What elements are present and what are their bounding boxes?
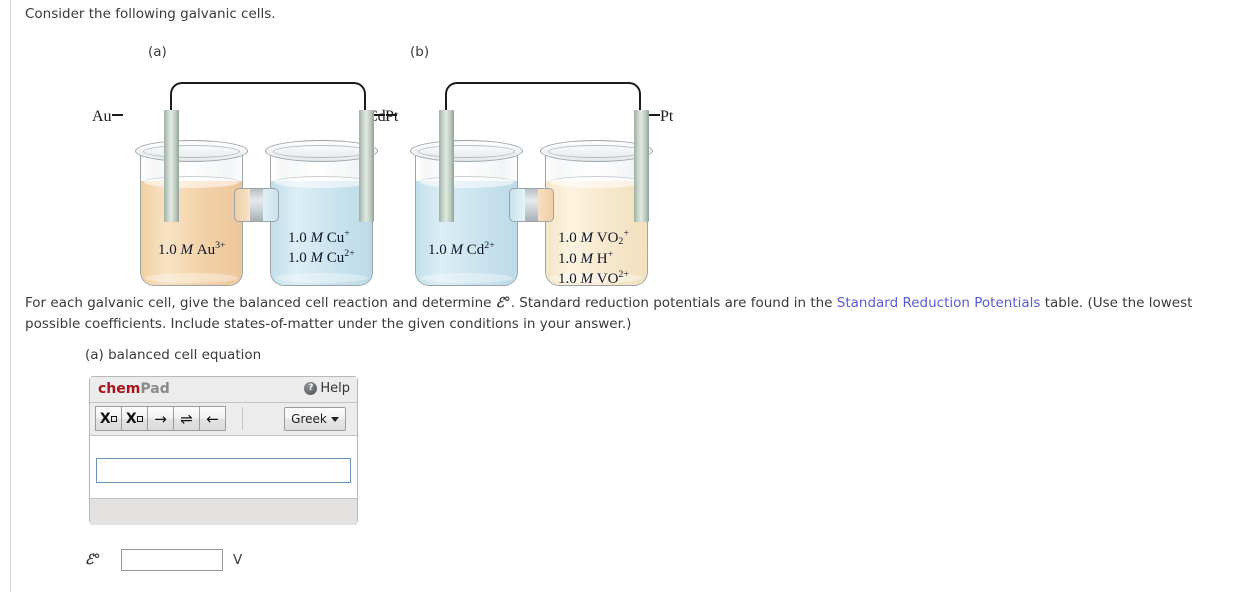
superscript-box-icon	[137, 416, 143, 422]
chempad-header: chemPad ? Help	[90, 377, 357, 403]
cell-b-left-solution-label: 1.0 M Cd2+	[428, 240, 495, 260]
cell-a-cathode-electrode	[359, 110, 374, 222]
potential-unit-label: V	[233, 552, 242, 568]
cell-potential-symbol: ℰ°	[496, 295, 511, 311]
cell-b-caption: (b)	[410, 44, 429, 60]
cell-b-right-solution-label: 1.0 M VO2+ 1.0 M H+ 1.0 M VO2+	[558, 228, 629, 289]
beaker-rim	[135, 140, 248, 162]
help-icon: ?	[304, 382, 317, 395]
question-prompt: For each galvanic cell, give the balance…	[25, 293, 1240, 335]
cell-potential-row: ℰ° V	[85, 549, 242, 571]
connecting-wire-icon	[170, 82, 366, 134]
cell-b-cathode-electrode	[634, 110, 649, 222]
chempad-toolbar: X X → ⇌ ← Greek	[90, 403, 357, 436]
cell-a-right-solution-label: 1.0 M Cu+ 1.0 M Cu2+	[288, 228, 355, 268]
equilibrium-arrow-button[interactable]: ⇌	[173, 406, 200, 431]
galvanic-cell-b: Cd Pt 1.0 M Cd2+ 1.0 M VO2+ 1.0 M H+ 1.0…	[415, 62, 677, 290]
greek-label: Greek	[291, 412, 327, 426]
potential-symbol-label: ℰ°	[85, 552, 111, 568]
balanced-equation-input[interactable]	[96, 458, 351, 483]
cell-b-right-electrode-label: Pt	[649, 108, 673, 126]
prompt-part-1: For each galvanic cell, give the balance…	[25, 295, 496, 311]
cell-b-left-beaker	[415, 140, 518, 286]
chempad-help-label: Help	[320, 381, 350, 396]
superscript-button[interactable]: X	[121, 406, 148, 431]
toolbar-divider	[242, 407, 243, 430]
chempad-canvas[interactable]	[90, 436, 357, 499]
chempad-footer	[90, 499, 357, 525]
chempad-help-button[interactable]: ? Help	[304, 381, 350, 396]
cell-a-salt-bridge-icon	[234, 188, 279, 222]
chevron-down-icon	[331, 417, 339, 422]
cell-b-anode-electrode	[439, 110, 454, 222]
greek-dropdown-button[interactable]: Greek	[284, 407, 346, 431]
cell-b-salt-bridge-icon	[509, 188, 554, 222]
forward-arrow-button[interactable]: →	[147, 406, 174, 431]
cell-a-left-solution-label: 1.0 M Au3+	[158, 240, 226, 260]
galvanic-cells-figure: (a) (b) Au Pt 1.0 M Au3+ 1.0 M Cu+	[140, 40, 700, 290]
chempad-title-chem: chem	[98, 381, 140, 397]
page-left-rule	[10, 0, 11, 592]
chempad-title-pad: Pad	[140, 381, 169, 397]
chempad-title: chemPad	[98, 381, 170, 397]
cell-potential-input[interactable]	[121, 549, 223, 571]
cell-a-left-beaker	[140, 140, 243, 286]
standard-reduction-potentials-link[interactable]: Standard Reduction Potentials	[837, 295, 1041, 311]
chempad-widget: chemPad ? Help X X → ⇌ ← Greek	[89, 376, 358, 524]
beaker-rim	[410, 140, 523, 162]
galvanic-cell-a: Au Pt 1.0 M Au3+ 1.0 M Cu+ 1.0 M Cu2+	[140, 62, 402, 290]
prompt-part-2: . Standard reduction potentials are foun…	[511, 295, 837, 311]
intro-text: Consider the following galvanic cells.	[25, 6, 276, 22]
connecting-wire-icon	[445, 82, 641, 134]
subscript-box-icon	[111, 416, 117, 422]
subscript-button[interactable]: X	[95, 406, 122, 431]
cell-a-anode-electrode	[164, 110, 179, 222]
cell-a-left-electrode-label: Au	[92, 108, 123, 126]
part-a-label: (a) balanced cell equation	[85, 347, 261, 363]
reverse-arrow-button[interactable]: ←	[199, 406, 226, 431]
cell-a-caption: (a)	[148, 44, 167, 60]
